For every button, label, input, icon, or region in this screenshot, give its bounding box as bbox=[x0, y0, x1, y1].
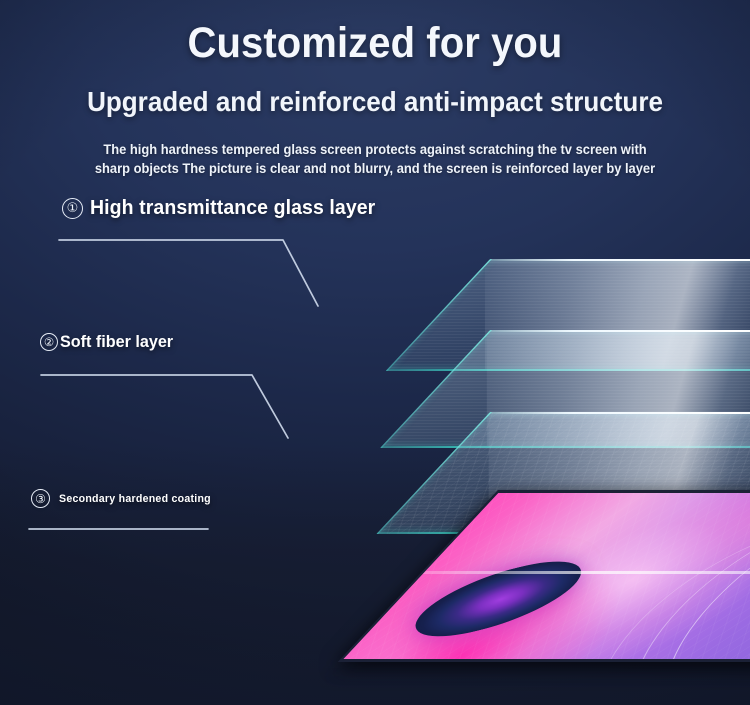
callout-label-3: Secondary hardened coating bbox=[59, 493, 211, 505]
glass-layer-top-edge bbox=[488, 259, 750, 261]
callout-number-3: ③ bbox=[31, 489, 50, 508]
header-block: Customized for you Upgraded and reinforc… bbox=[0, 0, 750, 178]
description-line-1: The high hardness tempered glass screen … bbox=[35, 141, 715, 160]
page-subtitle: Upgraded and reinforced anti-impact stru… bbox=[26, 66, 724, 116]
callout-number-2: ② bbox=[40, 333, 58, 351]
callout-label-2: Soft fiber layer bbox=[60, 332, 173, 352]
coating-layer-top-edge bbox=[488, 412, 750, 414]
callout-number-1: ① bbox=[62, 198, 83, 219]
description-paragraph: The high hardness tempered glass screen … bbox=[35, 116, 715, 179]
callout-label-1: High transmittance glass layer bbox=[90, 196, 375, 220]
callout-glass-layer: ① High transmittance glass layer bbox=[62, 196, 390, 220]
fiber-layer-top-edge bbox=[488, 330, 750, 332]
description-line-2: sharp objects The picture is clear and n… bbox=[35, 160, 715, 179]
infographic-root: ① High transmittance glass layer ② Soft … bbox=[0, 0, 750, 705]
page-title: Customized for you bbox=[26, 0, 724, 66]
callout-coating-layer: ③ Secondary hardened coating bbox=[31, 489, 211, 508]
callout-fiber-layer: ② Soft fiber layer bbox=[40, 332, 179, 352]
